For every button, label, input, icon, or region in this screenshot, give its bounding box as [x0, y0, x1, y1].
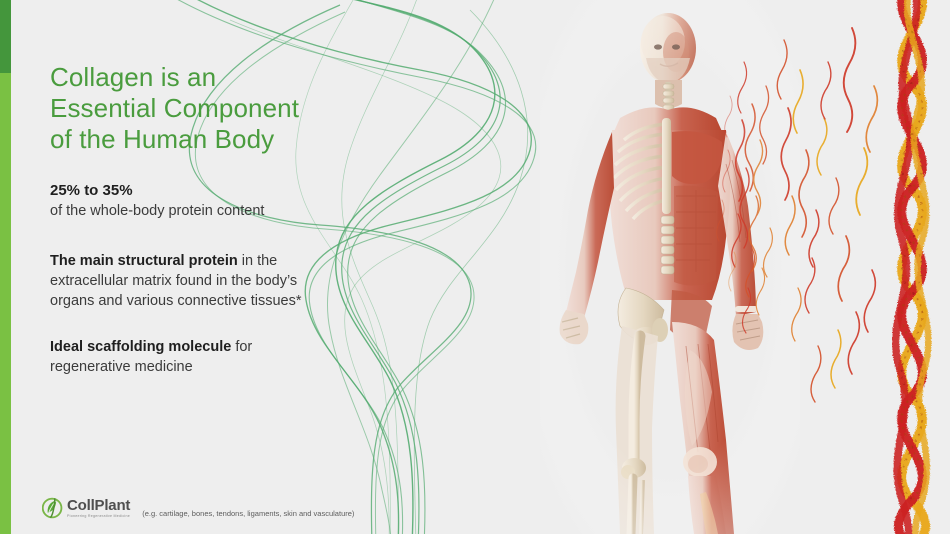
bullet-line-2: of the whole-body protein content — [50, 201, 380, 221]
page-title: Collagen is an Essential Component of th… — [50, 62, 380, 155]
slide-text-column: Collagen is an Essential Component of th… — [50, 62, 380, 403]
leaf-logo-icon — [42, 496, 64, 520]
presentation-slide: Collagen is an Essential Component of th… — [0, 0, 950, 534]
collplant-logo: CollPlant Pioneering Regenerative Medici… — [42, 496, 130, 520]
bullet-item-scaffolding: Ideal scaffolding molecule for regenerat… — [50, 337, 380, 377]
bullet-rest: for — [231, 339, 252, 355]
bullet-line-2: regenerative medicine — [50, 357, 380, 377]
bullet-item-protein-share: 25% to 35% of the whole-body protein con… — [50, 181, 380, 221]
bullet-line-1: Ideal scaffolding molecule for — [50, 337, 380, 357]
logo-wordmark: CollPlant — [67, 498, 130, 513]
bullet-lead: The main structural protein — [50, 253, 238, 269]
bullet-lead: Ideal scaffolding molecule — [50, 339, 231, 355]
bullet-line-1: The main structural protein in the — [50, 251, 380, 271]
slide-footer: CollPlant Pioneering Regenerative Medici… — [42, 496, 354, 520]
bullet-line-2: extracellular matrix found in the body’s — [50, 271, 380, 291]
accent-bar-light-segment — [0, 73, 11, 534]
logo-text-block: CollPlant Pioneering Regenerative Medici… — [67, 498, 130, 519]
bullet-item-structural-protein: The main structural protein in the extra… — [50, 251, 380, 311]
bullet-line-3: organs and various connective tissues* — [50, 291, 380, 311]
bullet-line-1: 25% to 35% — [50, 181, 380, 201]
footnote-text: (e.g. cartilage, bones, tendons, ligamen… — [142, 509, 354, 520]
accent-bar-dark-segment — [0, 0, 11, 73]
logo-tagline: Pioneering Regenerative Medicine — [67, 513, 130, 519]
left-accent-bar — [0, 0, 11, 534]
bullet-list: 25% to 35% of the whole-body protein con… — [50, 181, 380, 377]
bullet-rest: in the — [238, 253, 278, 269]
bullet-lead: 25% to 35% — [50, 182, 133, 199]
